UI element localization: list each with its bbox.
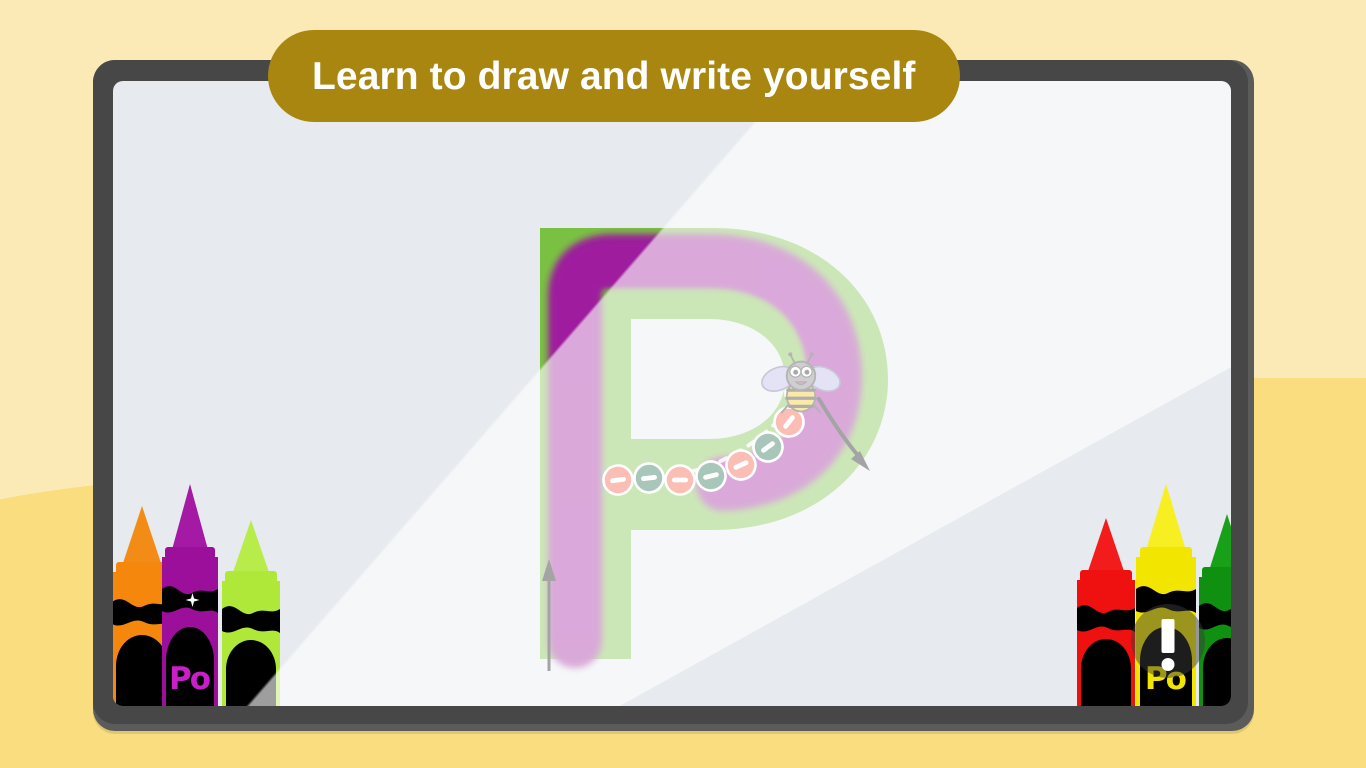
bee-mascot-icon[interactable] xyxy=(758,352,843,412)
guide-dot[interactable] xyxy=(781,374,819,412)
crayon-green[interactable] xyxy=(1199,514,1231,706)
crayon-label xyxy=(1203,638,1231,706)
crayon-tray-right: Po xyxy=(113,446,1231,706)
title-banner: Learn to draw and write yourself xyxy=(268,30,960,122)
whiteboard-surface[interactable]: Po Po xyxy=(113,81,1231,706)
crayon-band xyxy=(1199,600,1231,634)
crayon-band xyxy=(1077,602,1135,636)
alert-button[interactable] xyxy=(1131,604,1205,678)
title-banner-label: Learn to draw and write yourself xyxy=(312,57,916,96)
whiteboard-frame: Po Po xyxy=(93,60,1254,731)
exclamation-bar-icon xyxy=(1162,619,1175,653)
crayon-body xyxy=(1077,580,1135,706)
crayon-red[interactable] xyxy=(1077,518,1135,706)
exclamation-dot-icon xyxy=(1162,658,1175,671)
guide-dot[interactable] xyxy=(769,402,810,443)
app-root: Po Po Learn to draw and write yourself xyxy=(0,0,1366,768)
crayon-label xyxy=(1081,639,1131,706)
